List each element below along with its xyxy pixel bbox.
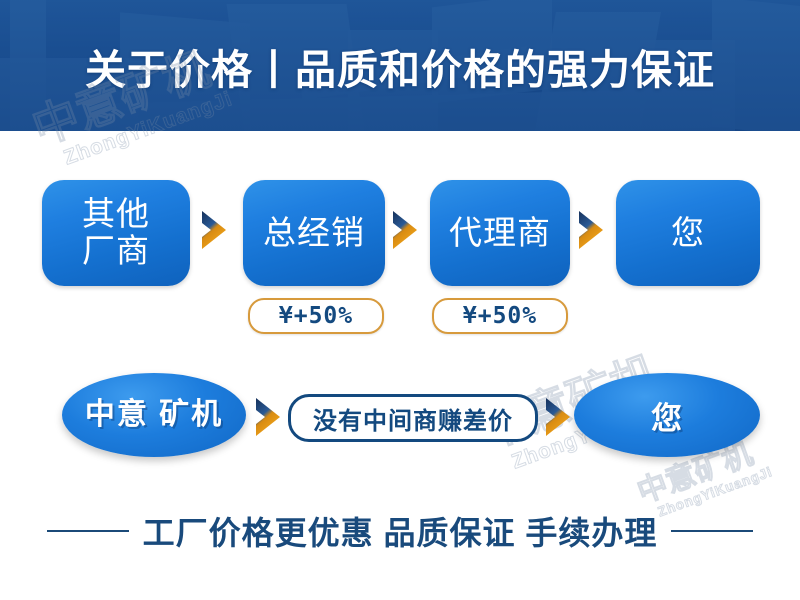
- flow-node-label: 代理商: [449, 215, 551, 252]
- flow-node-you[interactable]: 您: [616, 180, 760, 286]
- chevron-right-icon: [199, 209, 229, 251]
- flow-node-label: 您: [671, 215, 705, 252]
- chevron-right-icon: [390, 209, 420, 251]
- brand-label-line1: 中意: [85, 398, 149, 431]
- bottom-banner-text: 工厂价格更优惠 品质保证 手续办理: [143, 508, 658, 554]
- flow-node-agent[interactable]: 代理商: [430, 180, 570, 286]
- page-title: 关于价格丨品质和价格的强力保证: [0, 0, 800, 131]
- bottom-banner: 工厂价格更优惠 品质保证 手续办理: [0, 504, 800, 558]
- flow-node-other-manufacturer[interactable]: 其他 厂商: [42, 180, 190, 286]
- flow-node-general-distributor[interactable]: 总经销: [243, 180, 385, 286]
- brand-ellipse-zhongyi[interactable]: 中意 矿机: [62, 373, 246, 457]
- header-banner: 关于价格丨品质和价格的强力保证: [0, 0, 800, 131]
- no-middleman-pill: 没有中间商赚差价: [288, 394, 538, 442]
- price-markup-badge-2: ¥+50%: [432, 298, 568, 334]
- brand-label-line2: 矿机: [159, 398, 223, 431]
- price-markup-label: ¥+50%: [279, 303, 353, 329]
- chevron-right-icon: [253, 396, 283, 438]
- chevron-right-icon: [576, 209, 606, 251]
- customer-label: 您: [651, 393, 683, 438]
- chevron-right-icon: [543, 396, 573, 438]
- divider-line-left: [47, 530, 129, 532]
- flow-node-label-line1: 其他: [82, 196, 150, 233]
- flow-node-label-line2: 厂商: [82, 233, 150, 270]
- no-middleman-label: 没有中间商赚差价: [313, 401, 513, 436]
- price-markup-badge-1: ¥+50%: [248, 298, 384, 334]
- flow-node-label: 总经销: [263, 215, 365, 252]
- divider-line-right: [671, 530, 753, 532]
- customer-ellipse-you[interactable]: 您: [574, 373, 760, 457]
- promo-page: 关于价格丨品质和价格的强力保证 中意矿机 ZhongYiKuangJi 中意矿机…: [0, 0, 800, 600]
- price-markup-label: ¥+50%: [463, 303, 537, 329]
